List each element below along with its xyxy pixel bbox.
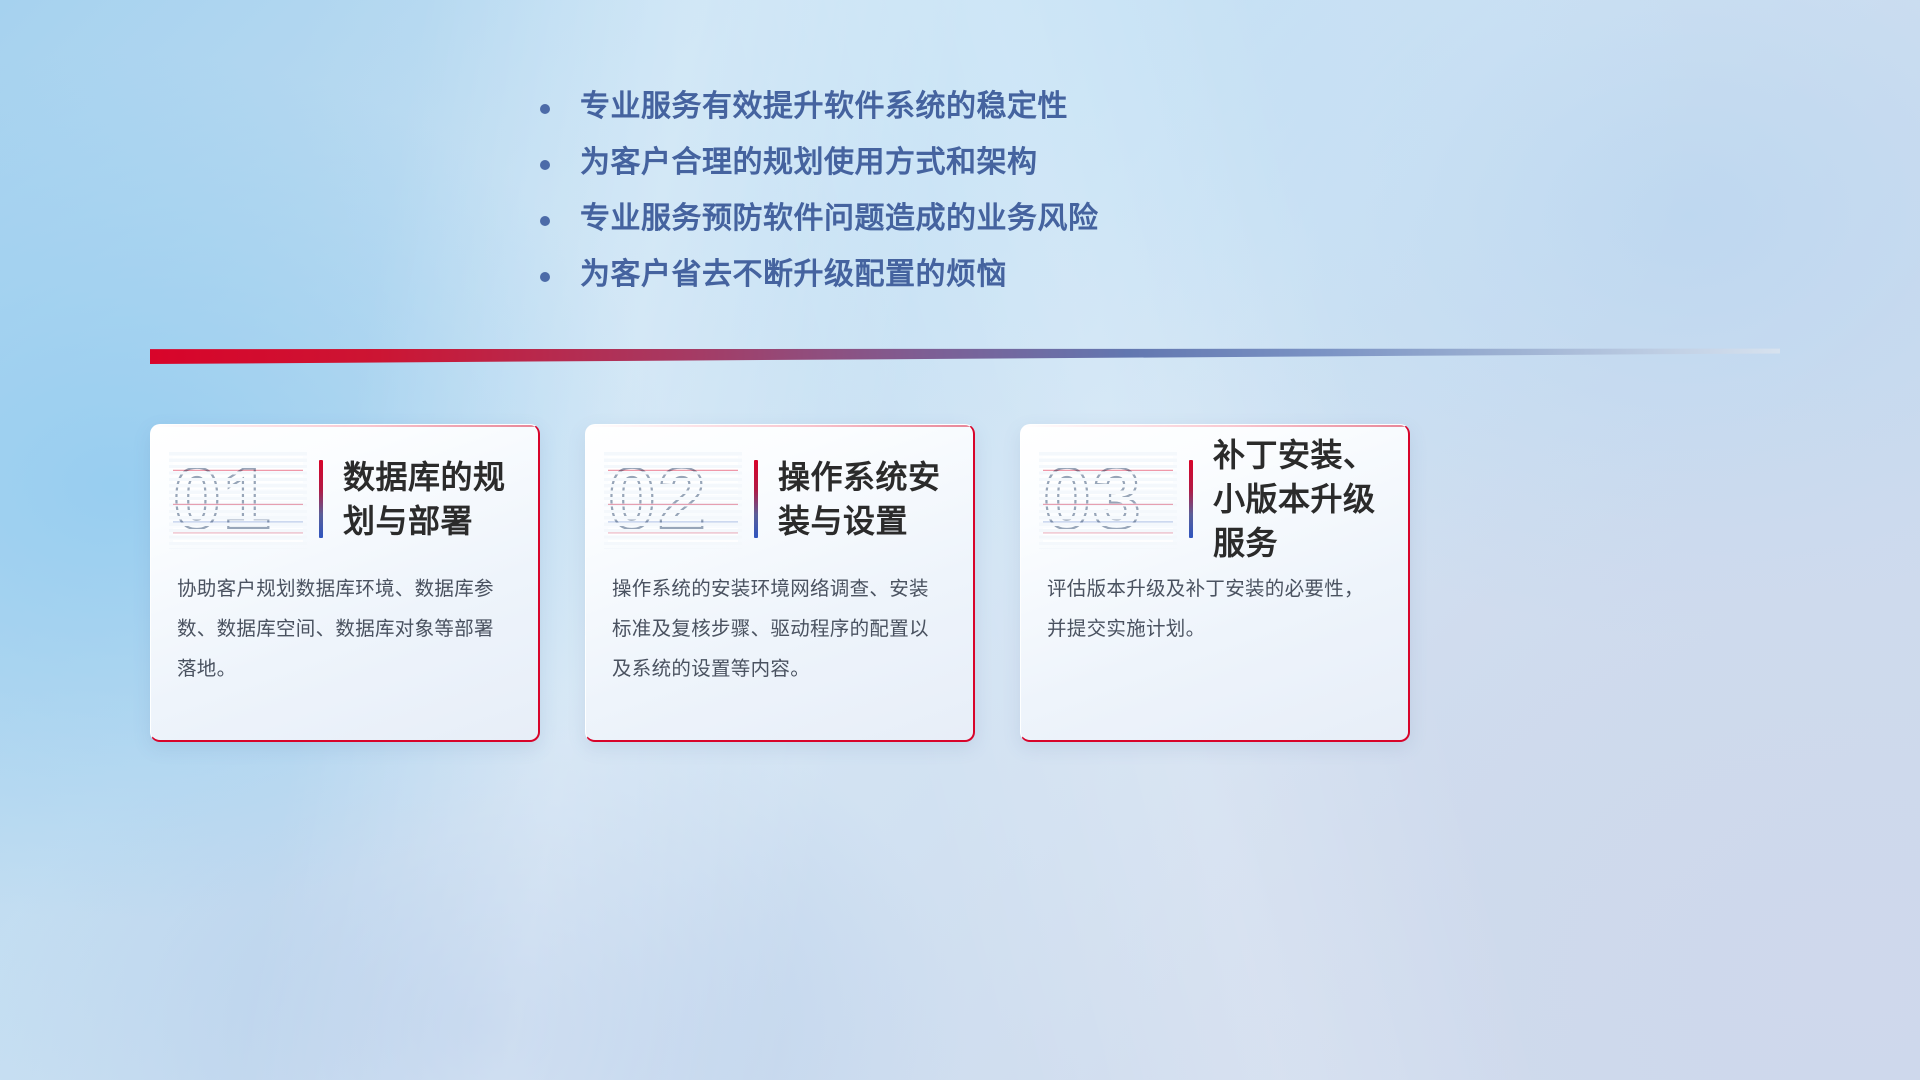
bullet-dot-icon (540, 272, 550, 282)
card-header: 01 数据库的规划与部署 (151, 425, 538, 545)
service-card-group: 01 数据库的规划与部署 协助客户规划数据库环境、数据库参数、数据库空间、数据库… (150, 424, 1790, 742)
card-number-striped: 02 (608, 453, 738, 545)
card-title: 数据库的规划与部署 (343, 455, 516, 543)
card-header: 03 补丁安装、小版本升级服务 (1021, 425, 1408, 545)
bullet-dot-icon (540, 104, 550, 114)
card-number-text: 02 (608, 453, 738, 545)
slide-canvas: 专业服务有效提升软件系统的稳定性 为客户合理的规划使用方式和架构 专业服务预防软… (0, 0, 1920, 1080)
card-number-striped: 03 (1043, 453, 1173, 545)
card-accent-rule (319, 460, 323, 538)
bullet-text: 为客户合理的规划使用方式和架构 (580, 144, 1038, 182)
service-card[interactable]: 01 数据库的规划与部署 协助客户规划数据库环境、数据库参数、数据库空间、数据库… (150, 424, 540, 742)
service-card[interactable]: 02 操作系统安装与设置 操作系统的安装环境网络调查、安装标准及复核步骤、驱动程… (585, 424, 975, 742)
card-body-text: 协助客户规划数据库环境、数据库参数、数据库空间、数据库对象等部署落地。 (151, 545, 538, 689)
card-accent-rule (754, 460, 758, 538)
card-number-text: 01 (173, 453, 303, 545)
benefits-bullet-list: 专业服务有效提升软件系统的稳定性 为客户合理的规划使用方式和架构 专业服务预防软… (540, 88, 1440, 312)
bullet-text: 为客户省去不断升级配置的烦恼 (580, 256, 1007, 294)
bullet-text: 专业服务预防软件问题造成的业务风险 (580, 200, 1099, 238)
gradient-wedge-divider (150, 340, 1780, 364)
card-number-striped: 01 (173, 453, 303, 545)
bullet-dot-icon (540, 216, 550, 226)
card-title: 操作系统安装与设置 (778, 455, 951, 543)
card-title: 补丁安装、小版本升级服务 (1213, 433, 1386, 565)
bullet-dot-icon (540, 160, 550, 170)
card-number-text: 03 (1043, 453, 1173, 545)
list-item: 为客户合理的规划使用方式和架构 (540, 144, 1440, 182)
bullet-text: 专业服务有效提升软件系统的稳定性 (580, 88, 1068, 126)
card-accent-rule (1189, 460, 1193, 538)
list-item: 专业服务预防软件问题造成的业务风险 (540, 200, 1440, 238)
list-item: 为客户省去不断升级配置的烦恼 (540, 256, 1440, 294)
list-item: 专业服务有效提升软件系统的稳定性 (540, 88, 1440, 126)
service-card[interactable]: 03 补丁安装、小版本升级服务 评估版本升级及补丁安装的必要性，并提交实施计划。 (1020, 424, 1410, 742)
section-divider (150, 340, 1780, 364)
card-header: 02 操作系统安装与设置 (586, 425, 973, 545)
card-body-text: 操作系统的安装环境网络调查、安装标准及复核步骤、驱动程序的配置以及系统的设置等内… (586, 545, 973, 689)
